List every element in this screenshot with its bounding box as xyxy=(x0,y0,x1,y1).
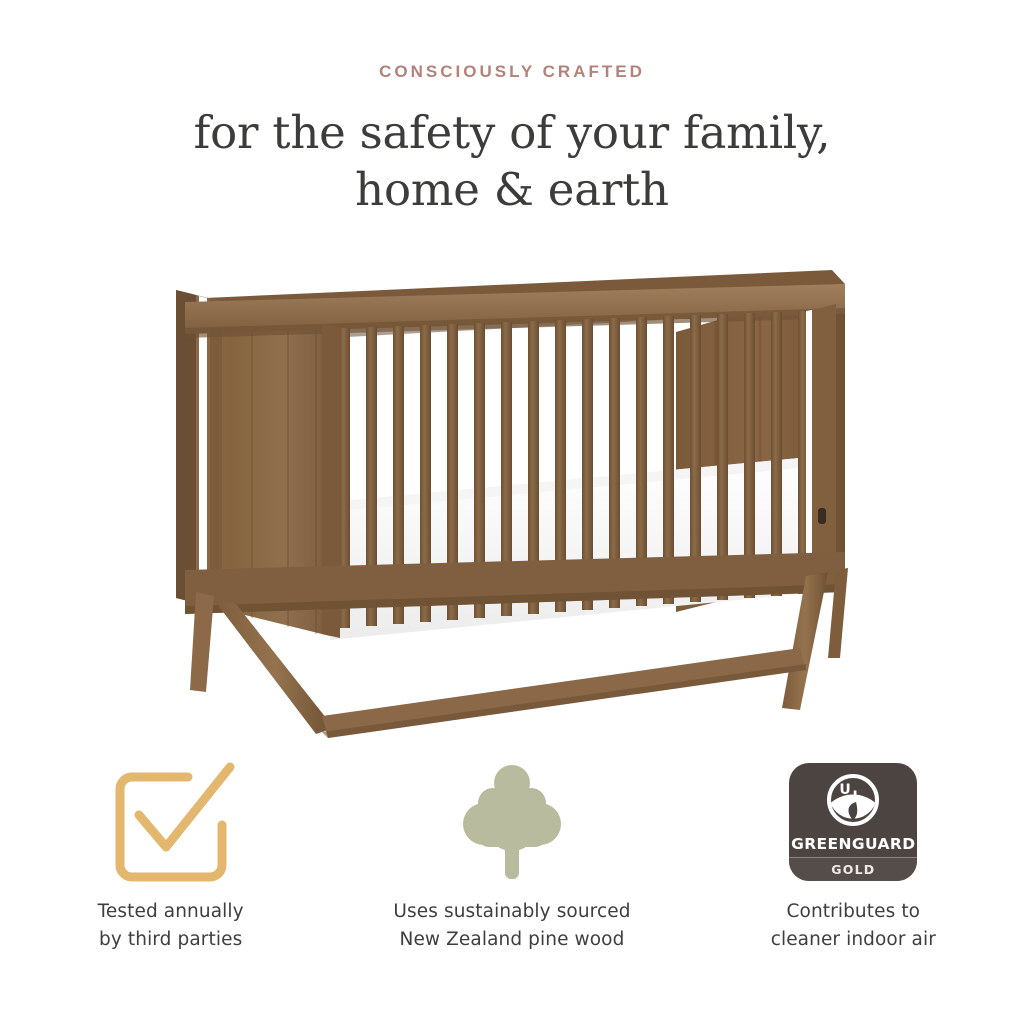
crib-left-end-gap xyxy=(199,296,207,605)
feature-item-greenguard-gold: U L GREENGUARD GOLD Contributes xyxy=(683,756,1024,986)
feature-caption: Uses sustainably sourced New Zealand pin… xyxy=(393,898,630,954)
crib-left-end-inner-stile xyxy=(210,299,222,608)
feature-caption: Contributes to cleaner indoor air xyxy=(771,898,936,954)
feature-caption-line-2: cleaner indoor air xyxy=(771,926,936,954)
badge-tier-band: GOLD xyxy=(789,858,917,881)
ul-leaf-icon: U L xyxy=(825,772,881,828)
marketing-product-card: CONSCIOUSLY CRAFTED for the safety of yo… xyxy=(0,0,1024,1024)
crib-illustration xyxy=(0,240,1024,760)
greenguard-gold-badge-icon: U L GREENGUARD GOLD xyxy=(789,763,917,881)
headline-line-1: for the safety of your family, xyxy=(194,106,831,159)
crib-corner-post-right xyxy=(812,304,836,590)
product-image xyxy=(0,240,1024,760)
feature-icon-slot xyxy=(457,756,567,888)
badge-tier-text: GOLD xyxy=(831,862,875,877)
crib-base-stretcher-shadow xyxy=(322,664,806,738)
crib-right-gap xyxy=(806,310,812,591)
ul-mark-wrapper: U L xyxy=(825,772,881,833)
tree-icon xyxy=(457,761,567,883)
feature-caption-line-1: Contributes to xyxy=(771,898,936,926)
ul-letter-u: U xyxy=(840,782,851,798)
feature-item-sustainable-wood: Uses sustainably sourced New Zealand pin… xyxy=(341,756,682,986)
eyebrow-text: CONSCIOUSLY CRAFTED xyxy=(0,62,1024,82)
feature-caption-line-1: Uses sustainably sourced xyxy=(393,898,630,926)
feature-caption-line-2: by third parties xyxy=(98,926,244,954)
feature-list: Tested annually by third parties xyxy=(0,756,1024,986)
feature-caption-line-2: New Zealand pine wood xyxy=(393,926,630,954)
headline-line-2: home & earth xyxy=(0,161,1024,218)
feature-icon-slot xyxy=(106,756,236,888)
ul-letter-l: L xyxy=(853,789,862,805)
feature-item-tested-annually: Tested annually by third parties xyxy=(0,756,341,986)
badge-name-text: GREENGUARD xyxy=(791,835,915,853)
checkbox-check-icon xyxy=(106,761,236,883)
feature-caption-line-1: Tested annually xyxy=(98,898,244,926)
feature-icon-slot: U L GREENGUARD GOLD xyxy=(789,756,917,888)
page-title: for the safety of your family, home & ea… xyxy=(0,104,1024,218)
feature-caption: Tested annually by third parties xyxy=(98,898,244,954)
crib-hardware-peg xyxy=(818,508,826,524)
